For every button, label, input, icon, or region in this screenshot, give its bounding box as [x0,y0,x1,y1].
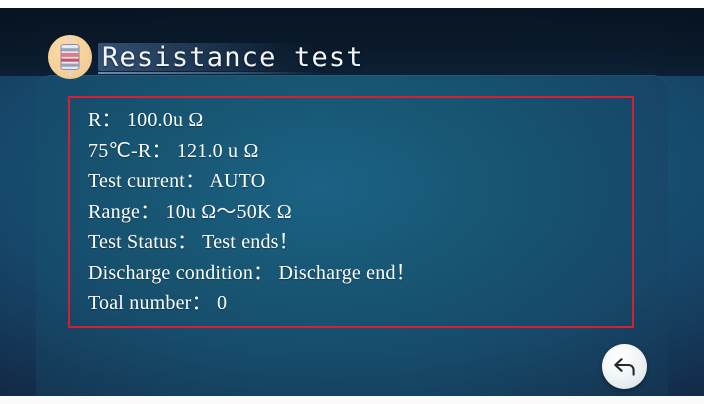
readout-line-test-status: Test Status： Test ends！ [88,227,622,258]
readout-list: R： 100.0u Ω 75℃-R： 121.0 u Ω Test curren… [88,105,622,319]
screen-bezel-bottom [0,396,704,404]
readout-line-resistance-75c: 75℃-R： 121.0 u Ω [88,136,622,167]
page-title: Resistance test [102,44,364,71]
app-root: Resistance test R： 100.0u Ω 75℃-R： 121.0… [0,8,704,396]
readout-line-range: Range： 10u Ω～50K Ω [88,197,622,228]
page-header: Resistance test [48,34,364,80]
resistor-icon [48,35,92,79]
back-arrow-icon [612,356,638,378]
readout-line-test-current: Test current： AUTO [88,166,622,197]
page-title-wrap: Resistance test [98,34,364,80]
device-screen: Resistance test R： 100.0u Ω 75℃-R： 121.0… [0,0,704,404]
readout-box: R： 100.0u Ω 75℃-R： 121.0 u Ω Test curren… [68,96,634,328]
screen-bezel-top [0,0,704,8]
readout-line-discharge-condition: Discharge condition： Discharge end！ [88,258,622,289]
back-button[interactable] [602,344,647,389]
readout-line-resistance: R： 100.0u Ω [88,105,622,136]
readout-line-total-number: Toal number： 0 [88,288,622,319]
